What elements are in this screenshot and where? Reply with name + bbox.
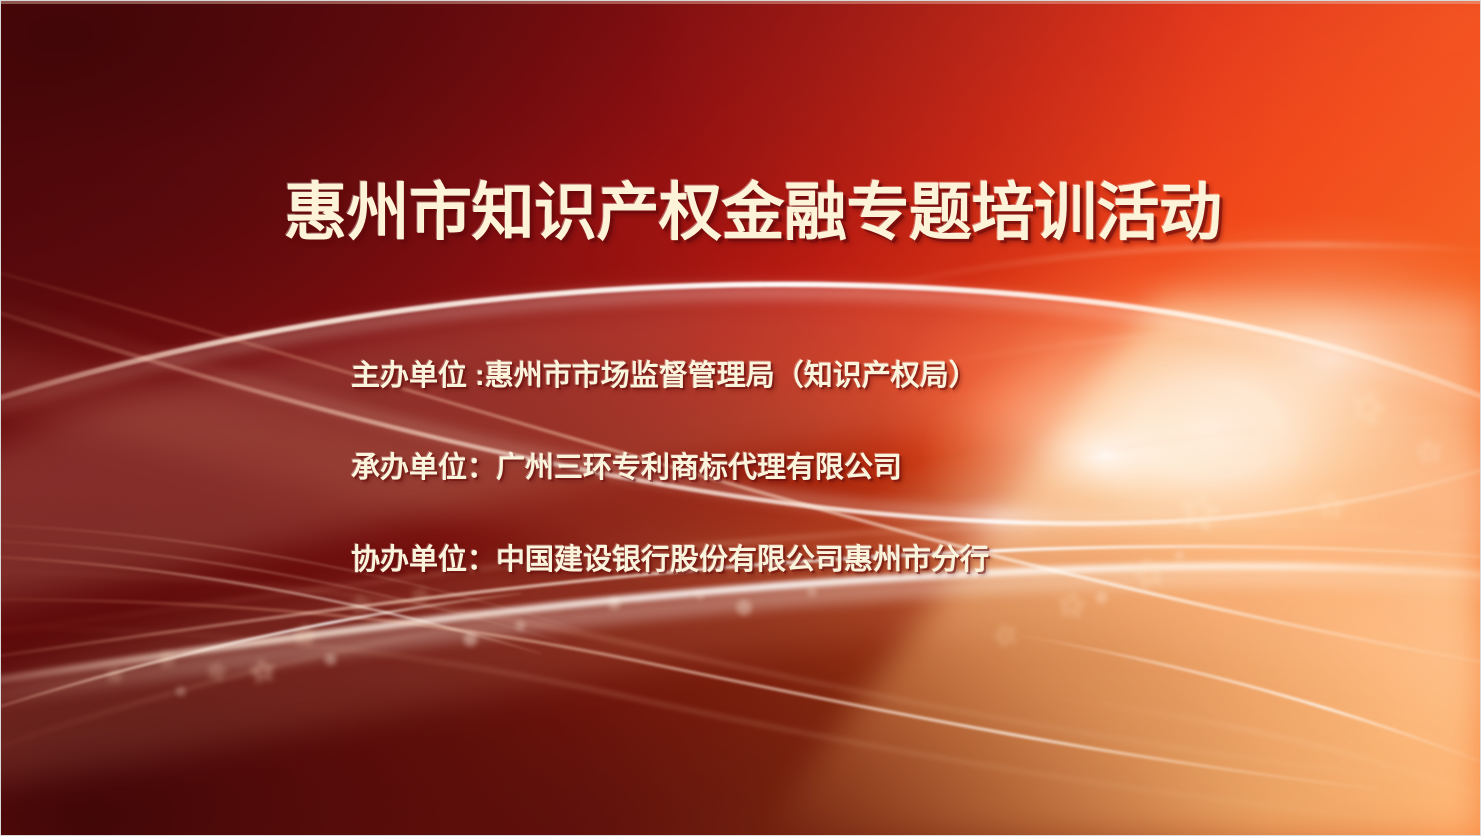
organizer-line-undertaker: 承办单位：广州三环专利商标代理有限公司 [351, 451, 1351, 486]
slide-content: 惠州市知识产权金融专题培训活动 主办单位 :惠州市市场监督管理局（知识产权局） … [1, 1, 1480, 835]
organizer-line-coorganizer: 协办单位：中国建设银行股份有限公司惠州市分行 [351, 543, 1351, 578]
organizer-list: 主办单位 :惠州市市场监督管理局（知识产权局） 承办单位：广州三环专利商标代理有… [351, 359, 1351, 577]
presentation-slide: 惠州市知识产权金融专题培训活动 主办单位 :惠州市市场监督管理局（知识产权局） … [0, 0, 1481, 836]
organizer-line-host: 主办单位 :惠州市市场监督管理局（知识产权局） [351, 359, 1351, 394]
page-title: 惠州市知识产权金融专题培训活动 [284, 179, 1222, 247]
